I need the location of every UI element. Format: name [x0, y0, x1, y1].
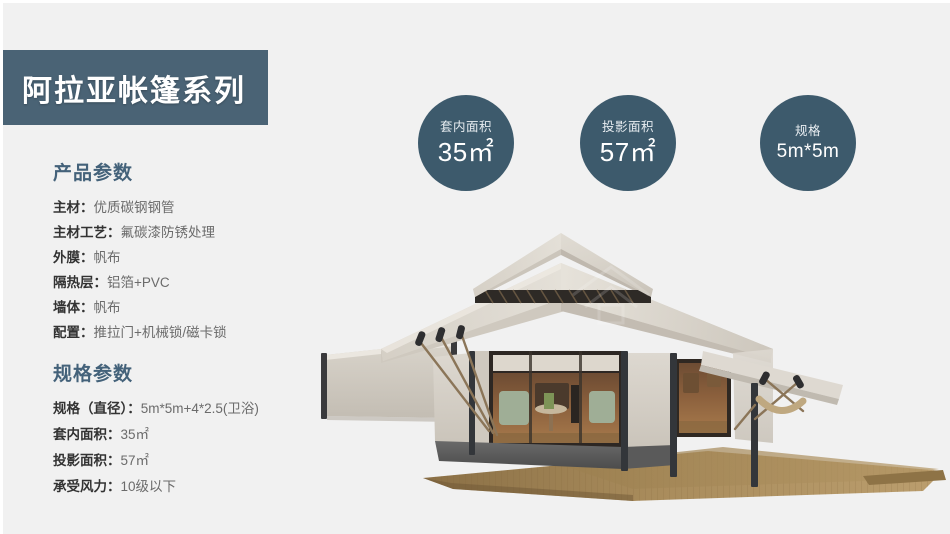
param-row: 主材：优质碳钢钢管	[53, 195, 353, 220]
param-label: 主材工艺：	[53, 225, 121, 240]
param-label: 配置：	[53, 325, 94, 340]
param-value: 帆布	[94, 250, 121, 265]
param-value: 铝箔+PVC	[107, 275, 170, 290]
stat-value: 35㎡	[438, 139, 494, 165]
stat-circle-dimensions: 规格 5m*5m	[760, 95, 856, 191]
param-value: 优质碳钢钢管	[94, 200, 175, 215]
param-value: 10级以下	[121, 479, 177, 494]
page-title: 阿拉亚帐篷系列	[22, 66, 246, 110]
stat-circle-indoor-area: 套内面积 35㎡	[418, 95, 514, 191]
stat-value: 57㎡	[600, 139, 656, 165]
param-value: 35㎡	[121, 427, 150, 442]
param-label: 墙体：	[53, 300, 94, 315]
stat-label: 规格	[795, 125, 821, 138]
stat-value: 5m*5m	[777, 142, 840, 161]
stat-circle-projected-area: 投影面积 57㎡	[580, 95, 676, 191]
param-label: 投影面积：	[53, 453, 121, 468]
param-value: 帆布	[94, 300, 121, 315]
param-value: 氟碳漆防锈处理	[121, 225, 216, 240]
param-label: 隔热层：	[53, 275, 107, 290]
param-label: 外膜：	[53, 250, 94, 265]
page-title-banner: 阿拉亚帐篷系列	[0, 50, 268, 125]
param-label: 规格（直径）：	[53, 401, 141, 416]
section-heading-product: 产品参数	[53, 158, 353, 185]
param-value: 57㎡	[121, 453, 150, 468]
product-spec-page: 阿拉亚帐篷系列 套内面积 35㎡ 投影面积 57㎡ 规格 5m*5m 产品参数 …	[0, 0, 950, 534]
param-label: 承受风力：	[53, 479, 121, 494]
param-value: 5m*5m+4*2.5(卫浴)	[141, 401, 259, 416]
hammock	[759, 399, 803, 411]
param-label: 主材：	[53, 200, 94, 215]
tent-product-image	[303, 233, 950, 513]
stat-label: 投影面积	[602, 121, 654, 134]
stat-label: 套内面积	[440, 121, 492, 134]
param-value: 推拉门+机械锁/磁卡锁	[94, 325, 227, 340]
param-label: 套内面积：	[53, 427, 121, 442]
